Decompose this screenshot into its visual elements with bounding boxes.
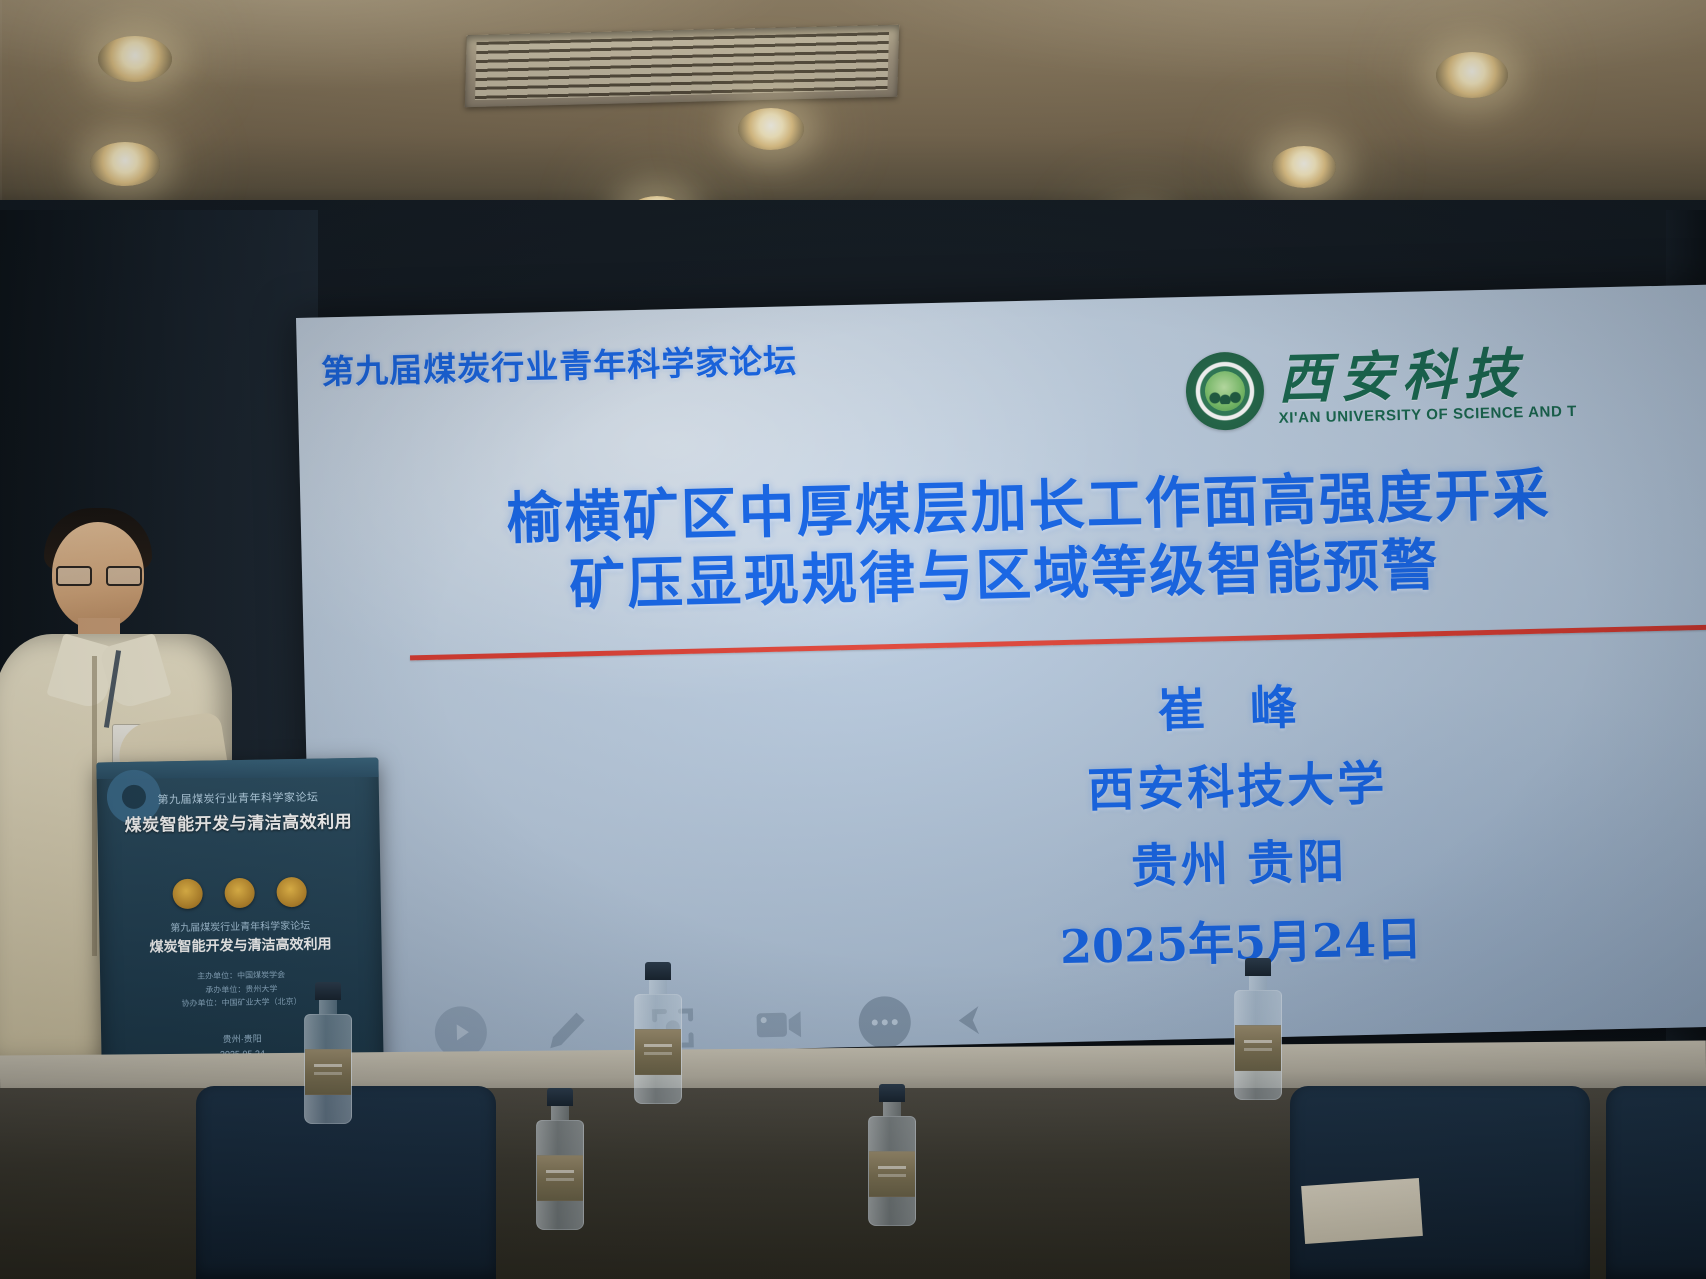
bottle-cap (547, 1088, 573, 1106)
bottle-body (868, 1116, 916, 1226)
water-bottle-4 (536, 1088, 584, 1230)
university-name-cn: 西安科技 (1277, 345, 1577, 405)
chair-2 (1290, 1086, 1590, 1279)
university-logo: 西安科技 XI'AN UNIVERSITY OF SCIENCE AND T (1185, 344, 1577, 431)
bottle-cap (879, 1084, 905, 1102)
podium-banner-subtitle: 第九届煤炭行业青年科学家论坛 (97, 788, 379, 809)
bottle-neck (551, 1106, 569, 1120)
bottle-label (305, 1049, 351, 1095)
glasses-icon (56, 566, 142, 582)
slide-meta: 崔 峰 西安科技大学 贵州 贵阳 2025年5月24日 (845, 665, 1632, 986)
bottle-label (537, 1155, 583, 1201)
emblem-icon-2 (224, 878, 255, 909)
pencil-icon[interactable] (540, 1003, 593, 1056)
share-icon[interactable] (946, 994, 999, 1047)
bottle-label (1235, 1025, 1281, 1071)
bottle-body (536, 1120, 584, 1230)
bottle-cap (315, 982, 341, 1000)
downlight-7 (1436, 52, 1508, 98)
presentation-location: 贵州 贵阳 (848, 820, 1629, 908)
podium-banner-title: 煤炭智能开发与清洁高效利用 (97, 807, 379, 837)
presenter-affiliation: 西安科技大学 (847, 742, 1628, 830)
projection-screen: 第九届煤炭行业青年科学家论坛 西安科技 XI'AN UNIVERSITY OF … (296, 285, 1706, 1060)
bottle-body (304, 1014, 352, 1124)
downlight-1 (98, 36, 172, 82)
bottle-neck (1249, 976, 1267, 990)
presenter-name: 崔 峰 (845, 665, 1626, 753)
bottle-body (634, 994, 682, 1104)
more-icon[interactable] (858, 996, 911, 1049)
title-divider (410, 625, 1706, 661)
bottle-neck (883, 1102, 901, 1116)
slide-title: 榆横矿区中厚煤层加长工作面高强度开采 矿压显现规律与区域等级智能预警 (300, 457, 1706, 627)
bottle-label (635, 1029, 681, 1075)
bottle-neck (649, 980, 667, 994)
downlight-2 (90, 142, 160, 186)
water-bottle-5 (868, 1084, 916, 1226)
podium-emblem-row (172, 877, 307, 909)
bottle-label (869, 1151, 915, 1197)
video-camera-icon[interactable] (752, 998, 805, 1051)
chair-3 (1606, 1086, 1706, 1279)
bottle-cap (1245, 958, 1271, 976)
emblem-icon-3 (276, 877, 307, 908)
ceiling-vent (465, 25, 899, 108)
paper-sheet (1301, 1178, 1423, 1244)
downlight-4 (738, 108, 804, 150)
bottle-body (1234, 990, 1282, 1100)
slide-header-text: 第九届煤炭行业青年科学家论坛 (321, 334, 798, 393)
bottle-cap (645, 962, 671, 980)
conference-photo-stage: 第九届煤炭行业青年科学家论坛 西安科技 XI'AN UNIVERSITY OF … (0, 0, 1706, 1279)
university-seal-icon (1185, 351, 1265, 431)
downlight-6 (1272, 146, 1336, 188)
bottle-neck (319, 1000, 337, 1014)
podium-banner: 第九届煤炭行业青年科学家论坛 煤炭智能开发与清洁高效利用 (97, 780, 380, 847)
water-bottle-1 (304, 982, 352, 1124)
podium-lower-title: 煤炭智能开发与清洁高效利用 (99, 933, 381, 958)
university-name-group: 西安科技 XI'AN UNIVERSITY OF SCIENCE AND T (1277, 345, 1577, 427)
water-bottle-3 (1234, 958, 1282, 1100)
emblem-icon-1 (172, 879, 203, 910)
water-bottle-2 (634, 962, 682, 1104)
